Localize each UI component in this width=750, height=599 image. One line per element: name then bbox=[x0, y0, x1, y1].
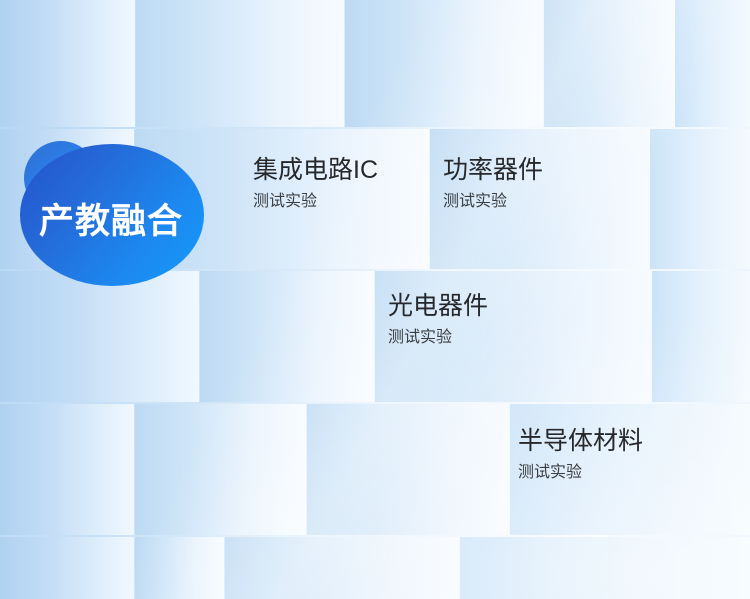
background-tile bbox=[460, 537, 750, 599]
background-tile bbox=[225, 537, 459, 599]
card-label[interactable]: 功率器件测试实验 bbox=[443, 155, 543, 211]
poster-canvas: 产教融合 集成电路IC测试实验功率器件测试实验光电器件测试实验半导体材料测试实验 bbox=[0, 0, 750, 599]
background-tile bbox=[307, 404, 509, 535]
card-title: 功率器件 bbox=[443, 155, 543, 185]
background-tile bbox=[135, 404, 306, 535]
background-tile bbox=[544, 0, 674, 127]
card-title: 半导体材料 bbox=[518, 426, 643, 456]
background-tile bbox=[136, 0, 344, 127]
background-tile bbox=[0, 271, 199, 402]
badge-label: 产教融合 bbox=[16, 204, 206, 239]
background-tile bbox=[675, 0, 750, 127]
background-tile bbox=[200, 271, 374, 402]
background-tile bbox=[135, 537, 224, 599]
background-tile bbox=[0, 0, 135, 127]
card-title: 光电器件 bbox=[388, 291, 488, 321]
background-tile bbox=[345, 0, 543, 127]
card-label[interactable]: 光电器件测试实验 bbox=[388, 291, 488, 347]
card-subtitle: 测试实验 bbox=[518, 463, 643, 482]
background-tile bbox=[650, 129, 750, 269]
card-subtitle: 测试实验 bbox=[443, 192, 543, 211]
card-label[interactable]: 半导体材料测试实验 bbox=[518, 426, 643, 482]
background-tile bbox=[0, 537, 134, 599]
background-tile bbox=[0, 404, 134, 535]
card-title: 集成电路IC bbox=[253, 155, 378, 185]
card-subtitle: 测试实验 bbox=[388, 328, 488, 347]
badge: 产教融合 bbox=[16, 138, 211, 288]
card-subtitle: 测试实验 bbox=[253, 192, 378, 211]
card-label[interactable]: 集成电路IC测试实验 bbox=[253, 155, 378, 211]
background-tile bbox=[652, 271, 750, 402]
background-tile-grid bbox=[0, 0, 750, 599]
